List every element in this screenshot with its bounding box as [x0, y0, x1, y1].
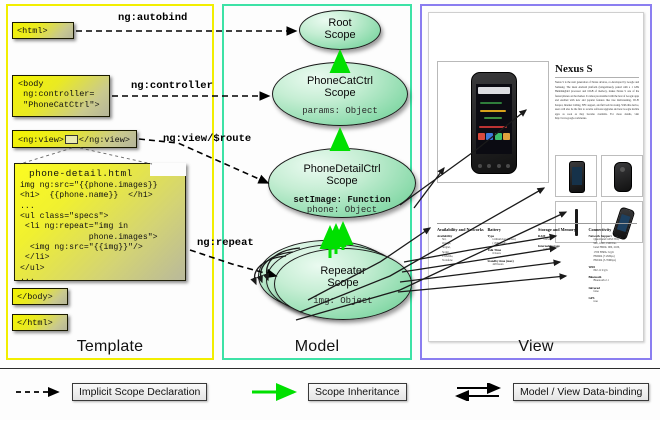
diagram-canvas: <html> <body ng:controller= "PhoneCatCtr…: [0, 0, 660, 420]
column-label-view: View: [420, 338, 652, 356]
green-arrow-icon: [250, 383, 308, 401]
legend-item-inheritance: Scope Inheritance: [250, 383, 407, 401]
legend-label-databinding: Model / View Data-binding: [513, 383, 649, 401]
legend-label-implicit: Implicit Scope Declaration: [72, 383, 207, 401]
legend-item-databinding: Model / View Data-binding: [455, 383, 649, 401]
connector-arrows: [0, 0, 660, 420]
column-label-model: Model: [222, 338, 412, 356]
legend-label-inheritance: Scope Inheritance: [308, 383, 407, 401]
dashed-arrow-icon: [14, 383, 72, 401]
legend-item-implicit: Implicit Scope Declaration: [14, 383, 207, 401]
column-label-template: Template: [6, 338, 214, 356]
double-arrow-icon: [455, 383, 513, 401]
legend: Implicit Scope Declaration Scope Inherit…: [0, 368, 660, 421]
